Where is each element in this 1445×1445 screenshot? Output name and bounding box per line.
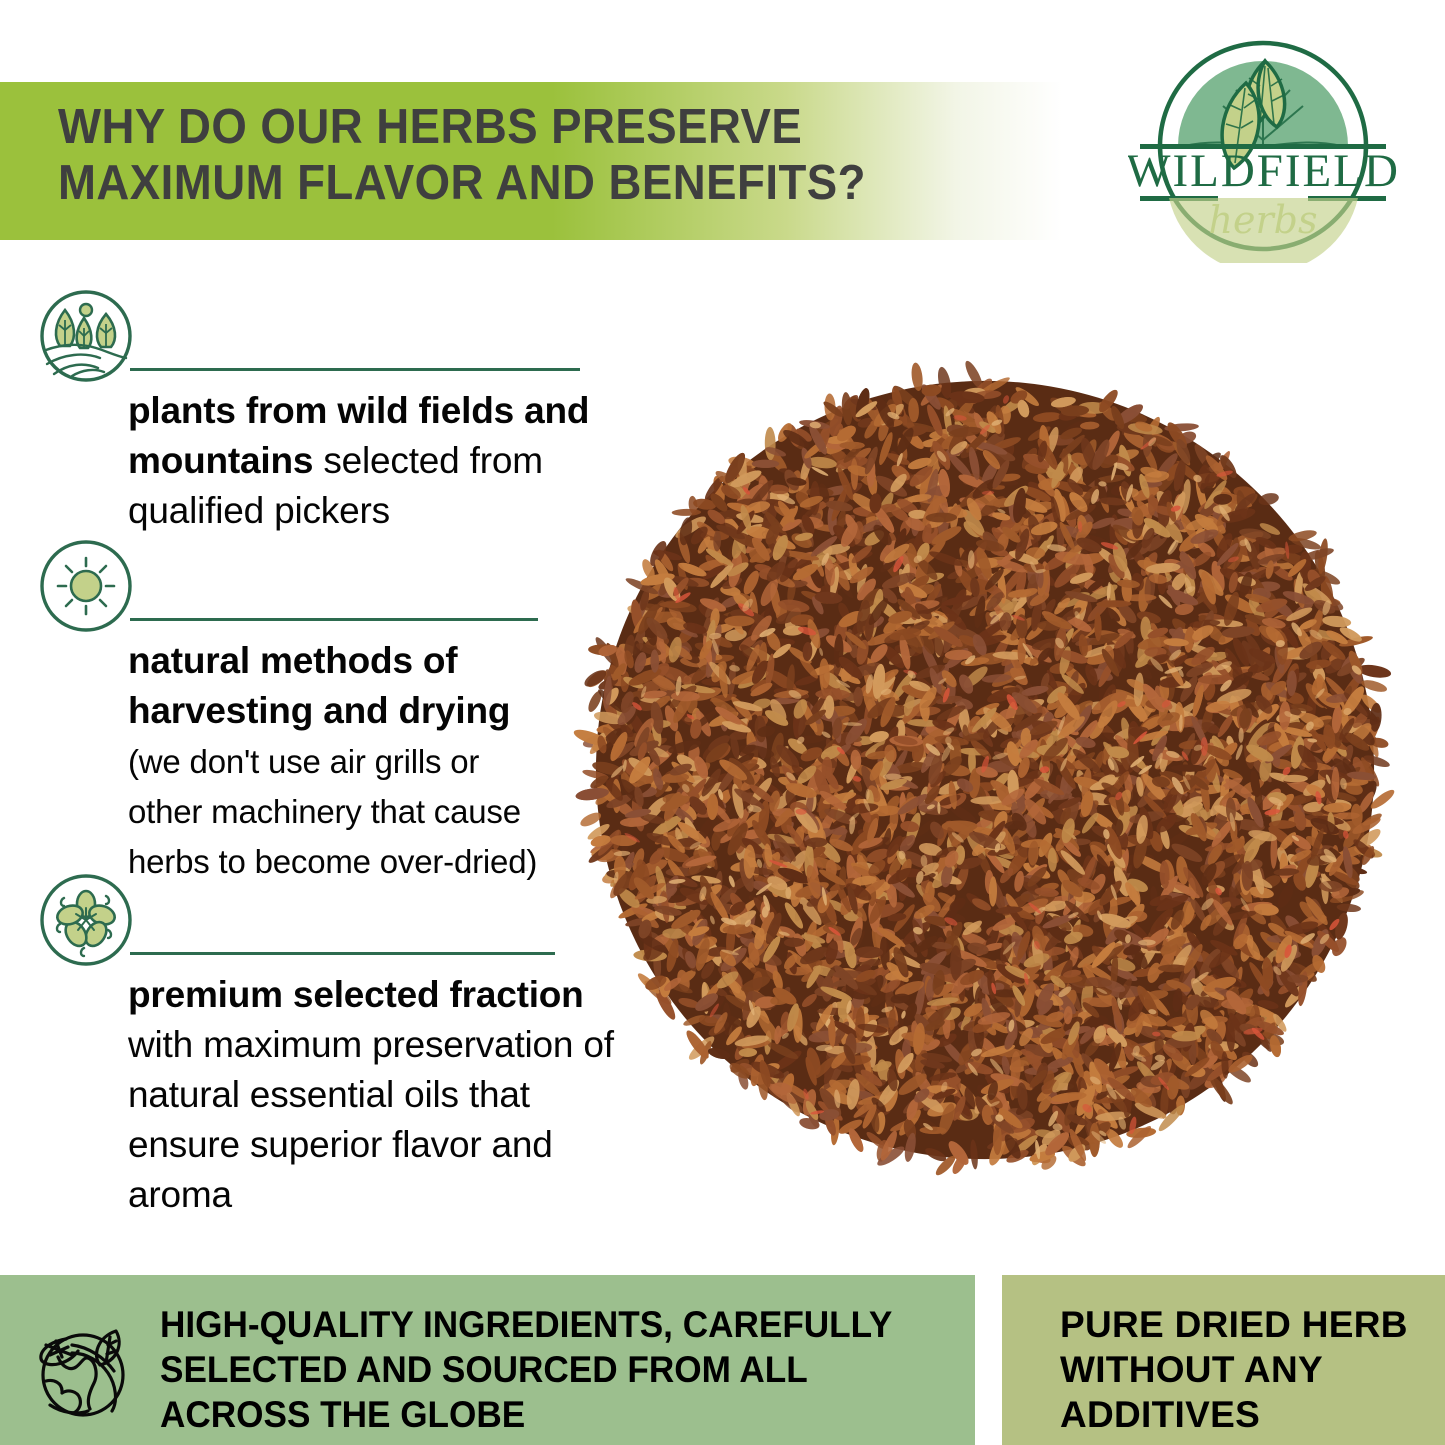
- divider-line-2: [130, 618, 538, 621]
- benefit-bold-3: premium selected fraction: [128, 974, 584, 1015]
- flower-icon: [38, 872, 134, 968]
- infographic-page: WHY DO OUR HERBS PRESERVE MAXIMUM FLAVOR…: [0, 0, 1445, 1445]
- field-with-bushes-icon: [38, 288, 134, 384]
- divider-line-3: [130, 952, 555, 955]
- banner-pure-dried-herb: PURE DRIED HERB WITHOUT ANY ADDITIVES: [1002, 1275, 1445, 1445]
- benefit-text-3: premium selected fraction with maximum p…: [128, 970, 643, 1220]
- page-title-line-1: WHY DO OUR HERBS PRESERVE: [58, 100, 802, 154]
- globe-with-leaves-icon: [28, 1297, 150, 1425]
- sun-icon: [38, 538, 134, 634]
- benefit-regular-3: with maximum preservation of natural ess…: [128, 1024, 614, 1215]
- page-title: WHY DO OUR HERBS PRESERVE MAXIMUM FLAVOR…: [58, 99, 951, 211]
- page-title-line-2: MAXIMUM FLAVOR AND BENEFITS?: [58, 155, 951, 211]
- brand-subname: herbs: [1209, 198, 1318, 242]
- benefit-note-2: (we don't use air grills or other machin…: [128, 743, 537, 880]
- benefit-text-1: plants from wild fields and mountains se…: [128, 386, 628, 536]
- banner-high-quality-ingredients: HIGH-QUALITY INGREDIENTS, CAREFULLY SELE…: [0, 1275, 975, 1445]
- divider-line-1: [130, 368, 580, 371]
- brand-logo-svg: WILDFIELD herbs: [1128, 28, 1398, 263]
- banner-right-text: PURE DRIED HERB WITHOUT ANY ADDITIVES: [1060, 1302, 1440, 1437]
- brand-name: WILDFIELD: [1128, 145, 1398, 197]
- banner-left-text: HIGH-QUALITY INGREDIENTS, CAREFULLY SELE…: [160, 1302, 920, 1437]
- benefit-bold-2: natural methods of harvesting and drying: [128, 640, 510, 731]
- benefit-text-2: natural methods of harvesting and drying…: [128, 636, 558, 886]
- dried-herb-pile: [560, 330, 1415, 1210]
- dried-herb-pile-svg: [560, 330, 1415, 1210]
- brand-logo[interactable]: WILDFIELD herbs: [1128, 28, 1398, 263]
